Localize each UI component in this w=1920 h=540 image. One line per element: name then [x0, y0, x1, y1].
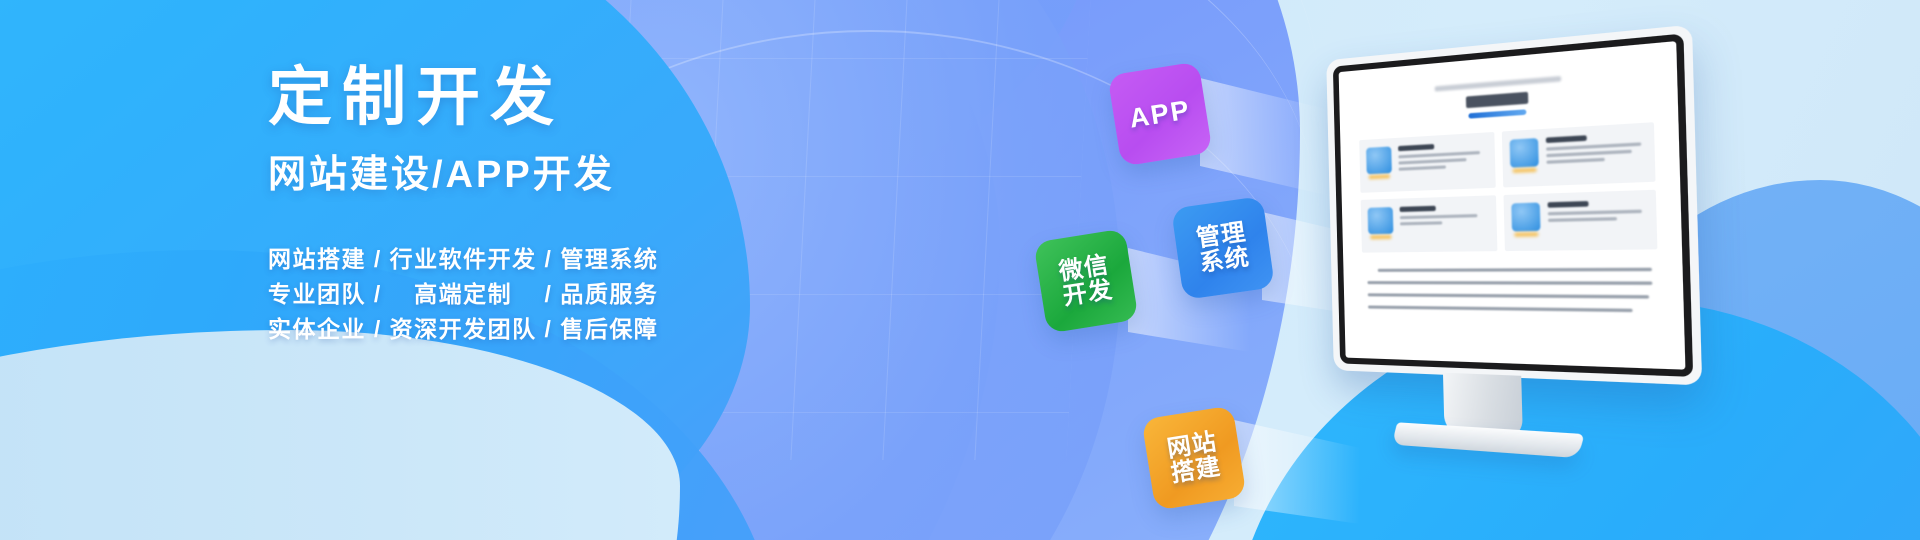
page-title: 定制开发	[268, 62, 888, 132]
screen-card-line	[1546, 150, 1632, 158]
feature-list: 网站搭建 / 行业软件开发 / 管理系统 专业团队 / 高端定制 / 品质服务 …	[268, 242, 888, 347]
feature-line: 实体企业 / 资深开发团队 / 售后保障	[268, 312, 888, 347]
website-build-card-icon[interactable]: 网站 搭建	[1141, 405, 1246, 510]
monitor-inner-frame	[1333, 33, 1693, 376]
screen-card-line	[1398, 158, 1467, 165]
screen-card-icon	[1366, 146, 1392, 174]
screen-card-line	[1547, 210, 1641, 216]
feature-line: 专业团队 / 高端定制 / 品质服务	[268, 277, 888, 312]
screen-card-line	[1546, 158, 1605, 164]
screen-card	[1503, 190, 1658, 251]
screen-card-text	[1547, 199, 1649, 242]
management-system-card-icon[interactable]: 管理 系统	[1171, 196, 1275, 300]
screen-card-heading	[1398, 144, 1434, 151]
promo-banner: 定制开发 网站建设/APP开发 网站搭建 / 行业软件开发 / 管理系统 专业团…	[0, 0, 1920, 540]
screen-heading-underline	[1468, 109, 1526, 118]
monitor-stand-base	[1392, 422, 1585, 458]
screen-card-text	[1398, 141, 1487, 183]
screen-kicker-text	[1435, 76, 1562, 92]
screen-card-line	[1398, 151, 1479, 158]
screen-card-line	[1547, 217, 1617, 222]
screen-heading	[1466, 92, 1528, 108]
screen-card-icon	[1509, 138, 1538, 168]
screen-card-icon	[1511, 203, 1540, 232]
wechat-card-label-line2: 开发	[1061, 277, 1114, 310]
feature-line: 网站搭建 / 行业软件开发 / 管理系统	[268, 242, 888, 277]
website-card-label-line2: 搭建	[1169, 454, 1222, 487]
page-subtitle: 网站建设/APP开发	[268, 154, 888, 198]
screen-card-text	[1545, 132, 1647, 177]
desktop-monitor-mockup	[1326, 25, 1702, 386]
screen-card-text	[1400, 204, 1490, 244]
screen-card-heading	[1400, 206, 1437, 212]
screen-card-icon	[1368, 207, 1394, 234]
banner-copy: 定制开发 网站建设/APP开发 网站搭建 / 行业软件开发 / 管理系统 专业团…	[268, 62, 888, 347]
screen-card-line	[1400, 221, 1442, 225]
app-card-icon[interactable]: APP	[1107, 61, 1212, 166]
screen-card-line	[1400, 214, 1478, 219]
monitor-bezel	[1326, 25, 1702, 386]
background-sliver-bottom-left	[0, 330, 680, 540]
screen-body-line	[1378, 268, 1651, 272]
app-card-label: APP	[1127, 95, 1192, 133]
screen-body-text	[1362, 268, 1659, 313]
screen-card-line	[1399, 165, 1446, 170]
monitor-screen	[1339, 41, 1686, 370]
screen-card	[1361, 195, 1497, 252]
screen-card	[1359, 132, 1495, 193]
screen-body-line	[1368, 293, 1649, 298]
screen-card-heading	[1545, 135, 1586, 143]
screen-card	[1501, 122, 1655, 187]
wechat-development-card-icon[interactable]: 微信 开发	[1033, 228, 1138, 333]
screen-card-grid	[1359, 122, 1657, 252]
screen-card-heading	[1547, 201, 1588, 208]
screen-body-line	[1368, 281, 1652, 285]
management-card-label-line2: 系统	[1198, 245, 1251, 277]
screen-body-line	[1368, 305, 1632, 312]
